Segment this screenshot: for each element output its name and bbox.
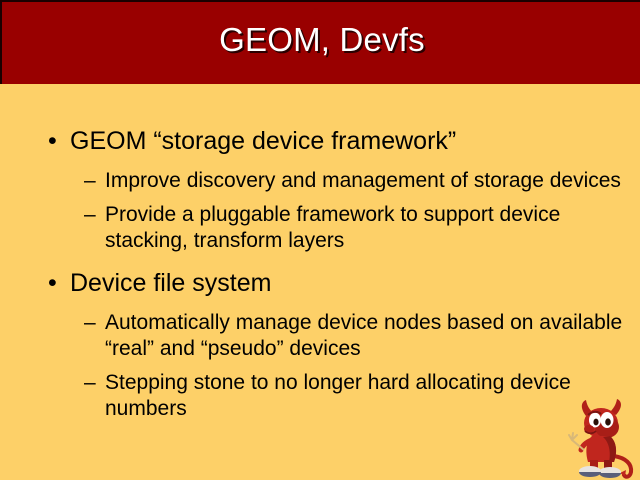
bullet-level2-text: Automatically manage device nodes based … xyxy=(105,311,622,360)
spacer xyxy=(0,362,640,370)
bullet-marker-icon: • xyxy=(48,268,57,299)
bullet-level2-text: Provide a pluggable framework to support… xyxy=(105,203,560,252)
dash-marker-icon: – xyxy=(84,310,96,336)
spacer xyxy=(0,157,640,168)
slide-body: • GEOM “storage device framework” – Impr… xyxy=(0,84,640,480)
bullet-level2: – Stepping stone to no longer hard alloc… xyxy=(0,370,640,422)
dash-marker-icon: – xyxy=(84,202,96,228)
bullet-level2-text: Improve discovery and management of stor… xyxy=(105,169,621,192)
bullet-marker-icon: • xyxy=(48,126,57,157)
bullet-level1: • GEOM “storage device framework” xyxy=(0,126,640,157)
spacer xyxy=(0,254,640,268)
page-title: GEOM, Devfs xyxy=(2,20,640,60)
bullet-level2-text: Stepping stone to no longer hard allocat… xyxy=(105,371,571,420)
slide: GEOM, Devfs • GEOM “storage device frame… xyxy=(0,0,640,480)
bsd-daemon-mascot-icon xyxy=(568,396,640,480)
bullet-level2: – Automatically manage device nodes base… xyxy=(0,310,640,362)
dash-marker-icon: – xyxy=(84,370,96,396)
bullet-level2: – Provide a pluggable framework to suppo… xyxy=(0,202,640,254)
bullet-level1-text: GEOM “storage device framework” xyxy=(70,127,456,155)
title-bar: GEOM, Devfs xyxy=(0,0,640,84)
bullet-level2: – Improve discovery and management of st… xyxy=(0,168,640,194)
spacer xyxy=(0,194,640,202)
dash-marker-icon: – xyxy=(84,168,96,194)
spacer xyxy=(0,299,640,310)
bullet-level1-text: Device file system xyxy=(70,269,271,297)
bullet-level1: • Device file system xyxy=(0,268,640,299)
spacer xyxy=(0,84,640,126)
